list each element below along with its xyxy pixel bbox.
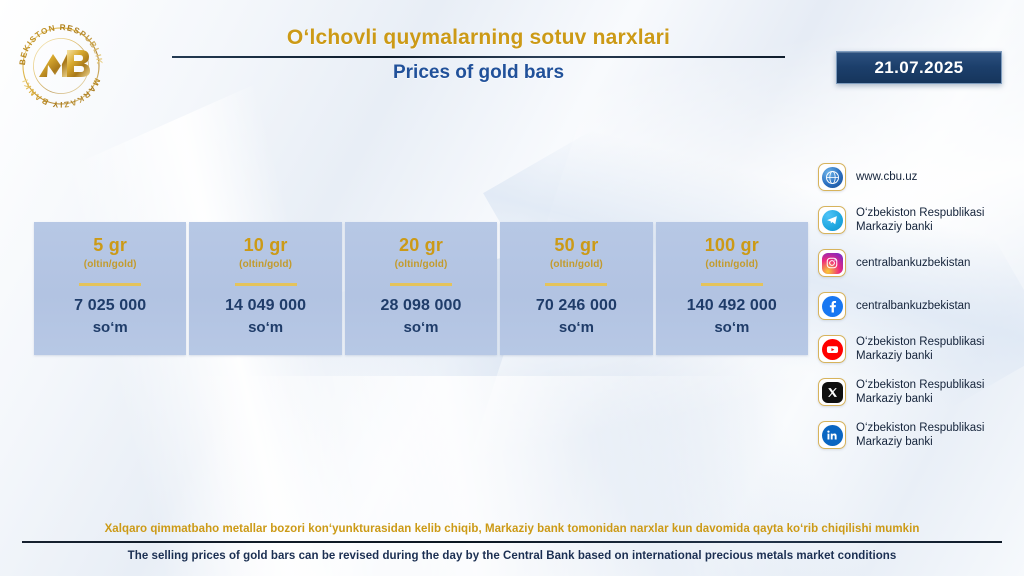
card-currency-unit: so‘m [93, 319, 128, 336]
social-row-website[interactable]: www.cbu.uz [818, 156, 1018, 198]
x-twitter-icon[interactable] [818, 378, 846, 406]
price-card: 100 gr (oltin/gold) 140 492 000 so‘m [656, 222, 808, 355]
date-badge: 21.07.2025 [836, 51, 1002, 84]
card-weight: 50 gr [554, 235, 598, 256]
card-subtitle: (oltin/gold) [84, 259, 137, 270]
svg-text:MARKAZIY BANKI: MARKAZIY BANKI [20, 77, 101, 109]
globe-icon[interactable] [818, 163, 846, 191]
card-weight: 10 gr [244, 235, 288, 256]
price-card: 5 gr (oltin/gold) 7 025 000 so‘m [34, 222, 186, 355]
card-subtitle: (oltin/gold) [705, 259, 758, 270]
card-price: 140 492 000 [687, 297, 777, 315]
social-label: O‘zbekiston RespublikasiMarkaziy banki [856, 378, 984, 406]
linkedin-icon[interactable] [818, 421, 846, 449]
footer-note-en: The selling prices of gold bars can be r… [22, 550, 1002, 562]
price-card: 50 gr (oltin/gold) 70 246 000 so‘m [500, 222, 652, 355]
social-label: O‘zbekiston RespublikasiMarkaziy banki [856, 206, 984, 234]
date-badge-label: 21.07.2025 [874, 58, 963, 78]
social-row-youtube[interactable]: O‘zbekiston RespublikasiMarkaziy banki [818, 328, 1018, 370]
social-links-list: www.cbu.uz O‘zbekiston RespublikasiMarka… [818, 156, 1018, 457]
page-title-en: Prices of gold bars [172, 62, 785, 84]
social-row-linkedin[interactable]: O‘zbekiston RespublikasiMarkaziy banki [818, 414, 1018, 456]
price-card: 10 gr (oltin/gold) 14 049 000 so‘m [189, 222, 341, 355]
social-row-facebook[interactable]: centralbankuzbekistan [818, 285, 1018, 327]
social-label: centralbankuzbekistan [856, 299, 970, 313]
card-currency-unit: so‘m [404, 319, 439, 336]
card-price: 70 246 000 [536, 297, 617, 315]
social-label: centralbankuzbekistan [856, 256, 970, 270]
card-price: 14 049 000 [225, 297, 306, 315]
card-divider [235, 283, 297, 286]
card-price: 7 025 000 [74, 297, 146, 315]
card-divider [701, 283, 763, 286]
social-label: www.cbu.uz [856, 170, 917, 184]
card-weight: 100 gr [705, 235, 759, 256]
card-currency-unit: so‘m [714, 319, 749, 336]
svg-text:O‘ZBEKISTON RESPUBLIKASI: O‘ZBEKISTON RESPUBLIKASI [9, 18, 104, 66]
card-divider [545, 283, 607, 286]
card-divider [79, 283, 141, 286]
card-weight: 20 gr [399, 235, 443, 256]
facebook-icon[interactable] [818, 292, 846, 320]
card-weight: 5 gr [93, 235, 127, 256]
footer: Xalqaro qimmatbaho metallar bozori kon‘y… [22, 523, 1002, 562]
social-row-instagram[interactable]: centralbankuzbekistan [818, 242, 1018, 284]
title-divider [172, 56, 785, 58]
footer-divider [22, 541, 1002, 543]
header: O‘lchovli quymalarning sotuv narxlari Pr… [172, 26, 785, 84]
card-currency-unit: so‘m [559, 319, 594, 336]
card-subtitle: (oltin/gold) [550, 259, 603, 270]
social-label: O‘zbekiston RespublikasiMarkaziy banki [856, 335, 984, 363]
card-subtitle: (oltin/gold) [239, 259, 292, 270]
social-label: O‘zbekiston RespublikasiMarkaziy banki [856, 421, 984, 449]
card-price: 28 098 000 [380, 297, 461, 315]
page-title-uz: O‘lchovli quymalarning sotuv narxlari [172, 26, 785, 50]
youtube-icon[interactable] [818, 335, 846, 363]
card-currency-unit: so‘m [248, 319, 283, 336]
card-divider [390, 283, 452, 286]
cbu-logo: O‘ZBEKISTON RESPUBLIKASI MARKAZIY BANKI [9, 18, 113, 114]
price-card-list: 5 gr (oltin/gold) 7 025 000 so‘m 10 gr (… [34, 222, 808, 355]
price-card: 20 gr (oltin/gold) 28 098 000 so‘m [345, 222, 497, 355]
card-subtitle: (oltin/gold) [395, 259, 448, 270]
instagram-icon[interactable] [818, 249, 846, 277]
telegram-icon[interactable] [818, 206, 846, 234]
footer-note-uz: Xalqaro qimmatbaho metallar bozori kon‘y… [22, 523, 1002, 535]
poster-canvas: O‘ZBEKISTON RESPUBLIKASI MARKAZIY BANKI … [0, 0, 1024, 576]
social-row-x-twitter[interactable]: O‘zbekiston RespublikasiMarkaziy banki [818, 371, 1018, 413]
social-row-telegram[interactable]: O‘zbekiston RespublikasiMarkaziy banki [818, 199, 1018, 241]
